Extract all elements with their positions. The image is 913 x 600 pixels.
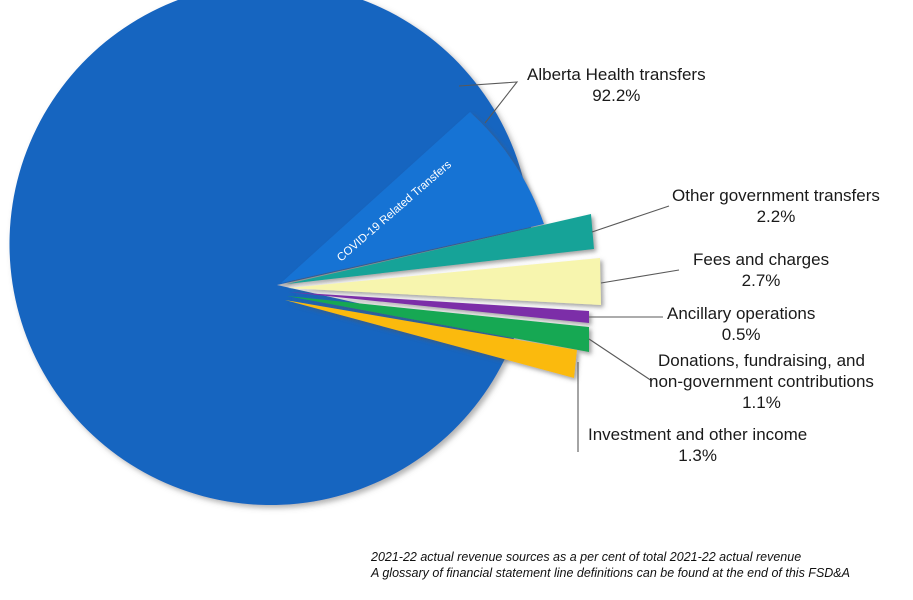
callout-donations-pct: 1.1%	[649, 392, 874, 413]
callout-investment-pct: 1.3%	[588, 445, 807, 466]
callout-ancillary-title: Ancillary operations	[667, 304, 815, 323]
callout-investment-title: Investment and other income	[588, 425, 807, 444]
callout-fees-and-charges: Fees and charges 2.7%	[693, 249, 829, 291]
leader-line-other-gov	[592, 206, 669, 232]
figure-footnote: 2021-22 actual revenue sources as a per …	[371, 549, 850, 581]
callout-ancillary-operations: Ancillary operations 0.5%	[667, 303, 815, 345]
pie-chart-graphic: COVID-19 Related Transfers	[0, 0, 913, 600]
callout-donations-line1: Donations, fundraising, and	[658, 351, 865, 370]
callout-other-gov-pct: 2.2%	[672, 206, 880, 227]
callout-donations-fundraising: Donations, fundraising, and non-governme…	[649, 350, 874, 413]
callout-alberta-health-transfers: Alberta Health transfers 92.2%	[527, 64, 706, 106]
callout-other-gov-title: Other government transfers	[672, 186, 880, 205]
callout-alberta-pct: 92.2%	[527, 85, 706, 106]
leader-line-donations	[589, 339, 652, 381]
footnote-line-1: 2021-22 actual revenue sources as a per …	[371, 549, 850, 565]
callout-investment-and-other-income: Investment and other income 1.3%	[588, 424, 807, 466]
callout-fees-title: Fees and charges	[693, 250, 829, 269]
callout-donations-line2: non-government contributions	[649, 371, 874, 392]
callout-alberta-title: Alberta Health transfers	[527, 65, 706, 84]
callout-other-government-transfers: Other government transfers 2.2%	[672, 185, 880, 227]
callout-ancillary-pct: 0.5%	[667, 324, 815, 345]
pie-chart-figure: COVID-19 Related Transfers Alberta Healt…	[0, 0, 913, 600]
callout-fees-pct: 2.7%	[693, 270, 829, 291]
footnote-line-2: A glossary of financial statement line d…	[371, 565, 850, 581]
leader-line-fees	[601, 270, 679, 283]
